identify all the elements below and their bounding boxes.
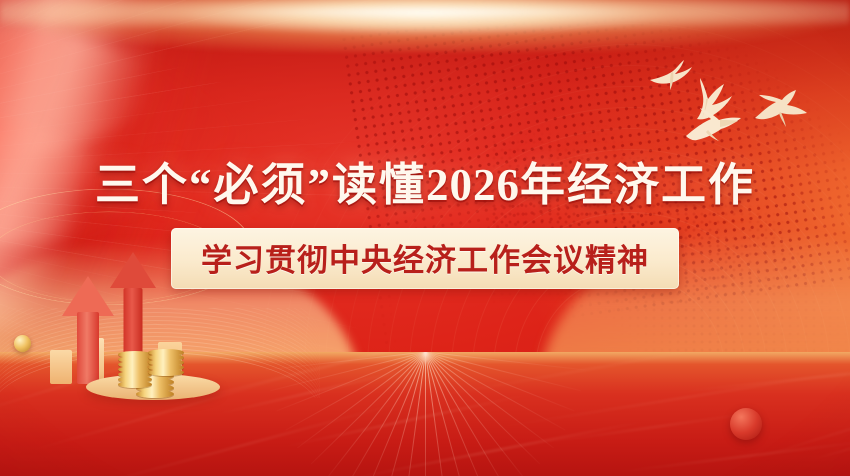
gold-coin-stack-2-icon [148,344,184,376]
growth-arrow-front-icon [62,276,114,384]
arrow-shaft [77,312,99,384]
poster-canvas: 三个“必须”读懂2026年经济工作 学习贯彻中央经济工作会议精神 [0,0,850,476]
poster-title-tail: 年经济工作 [520,160,755,210]
poster-title: 三个“必须”读懂2026年经济工作 [0,148,850,213]
horizon-glow-core [0,0,850,32]
red-sphere-icon [730,408,762,440]
peace-dove-4-icon [684,108,746,146]
gold-sphere-icon [14,335,31,352]
peace-dove-3-icon [752,88,810,128]
subtitle-banner-wrap: 学习贯彻中央经济工作会议精神 [0,228,850,289]
poster-title-lead: 三个“必须”读懂 [95,160,426,210]
poster-title-year: 2026 [426,160,520,210]
gold-coin-stack-1-icon [118,346,152,388]
subtitle-banner: 学习贯彻中央经济工作会议精神 [171,228,679,289]
peace-doves-group [646,36,836,146]
